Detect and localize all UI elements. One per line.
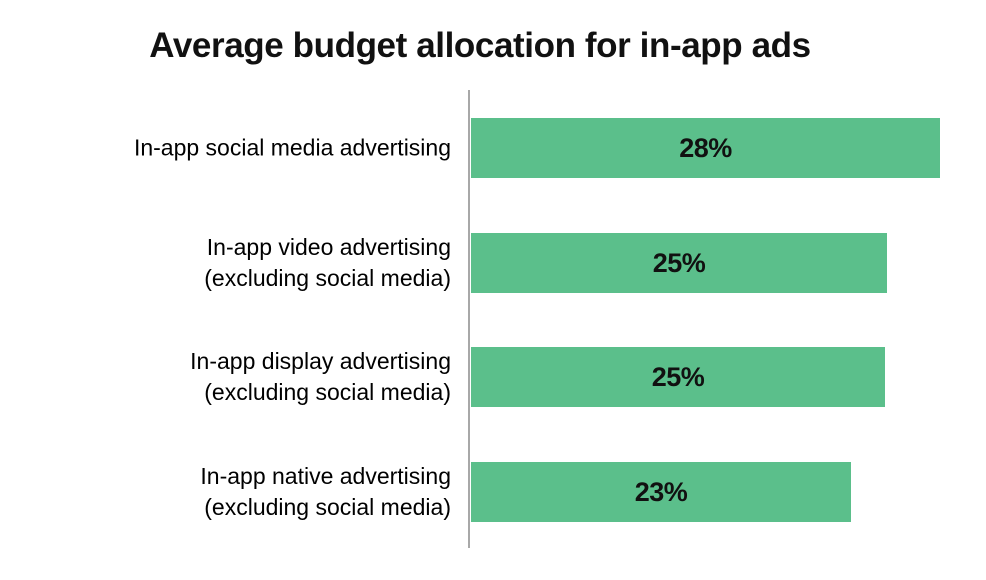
bar-row: In-app social media advertising 28% (0, 118, 986, 178)
category-label-line2: (excluding social media) (10, 263, 451, 294)
bar-value-label: 25% (471, 233, 887, 293)
bar-track: 23% (471, 462, 851, 522)
category-label-line1: In-app display advertising (190, 348, 451, 374)
category-label: In-app native advertising (excluding soc… (10, 461, 451, 523)
category-label-line2: (excluding social media) (10, 377, 451, 408)
bar-chart: Average budget allocation for in-app ads… (0, 0, 986, 580)
category-label-line1: In-app native advertising (200, 463, 451, 489)
category-label: In-app video advertising (excluding soci… (10, 232, 451, 294)
bar-value-label: 23% (471, 462, 851, 522)
category-label: In-app social media advertising (10, 133, 451, 164)
category-label-line1: In-app social media advertising (134, 135, 451, 161)
category-label-line1: In-app video advertising (207, 234, 451, 260)
plot-area: In-app social media advertising 28% In-a… (0, 0, 986, 580)
bar-row: In-app display advertising (excluding so… (0, 347, 986, 407)
category-label: In-app display advertising (excluding so… (10, 346, 451, 408)
bar-track: 25% (471, 233, 887, 293)
category-label-line2: (excluding social media) (10, 492, 451, 523)
bar-row: In-app native advertising (excluding soc… (0, 462, 986, 522)
bar-track: 28% (471, 118, 940, 178)
bar-value-label: 25% (471, 347, 885, 407)
bar-value-label: 28% (471, 118, 940, 178)
bar-row: In-app video advertising (excluding soci… (0, 233, 986, 293)
bar-track: 25% (471, 347, 885, 407)
